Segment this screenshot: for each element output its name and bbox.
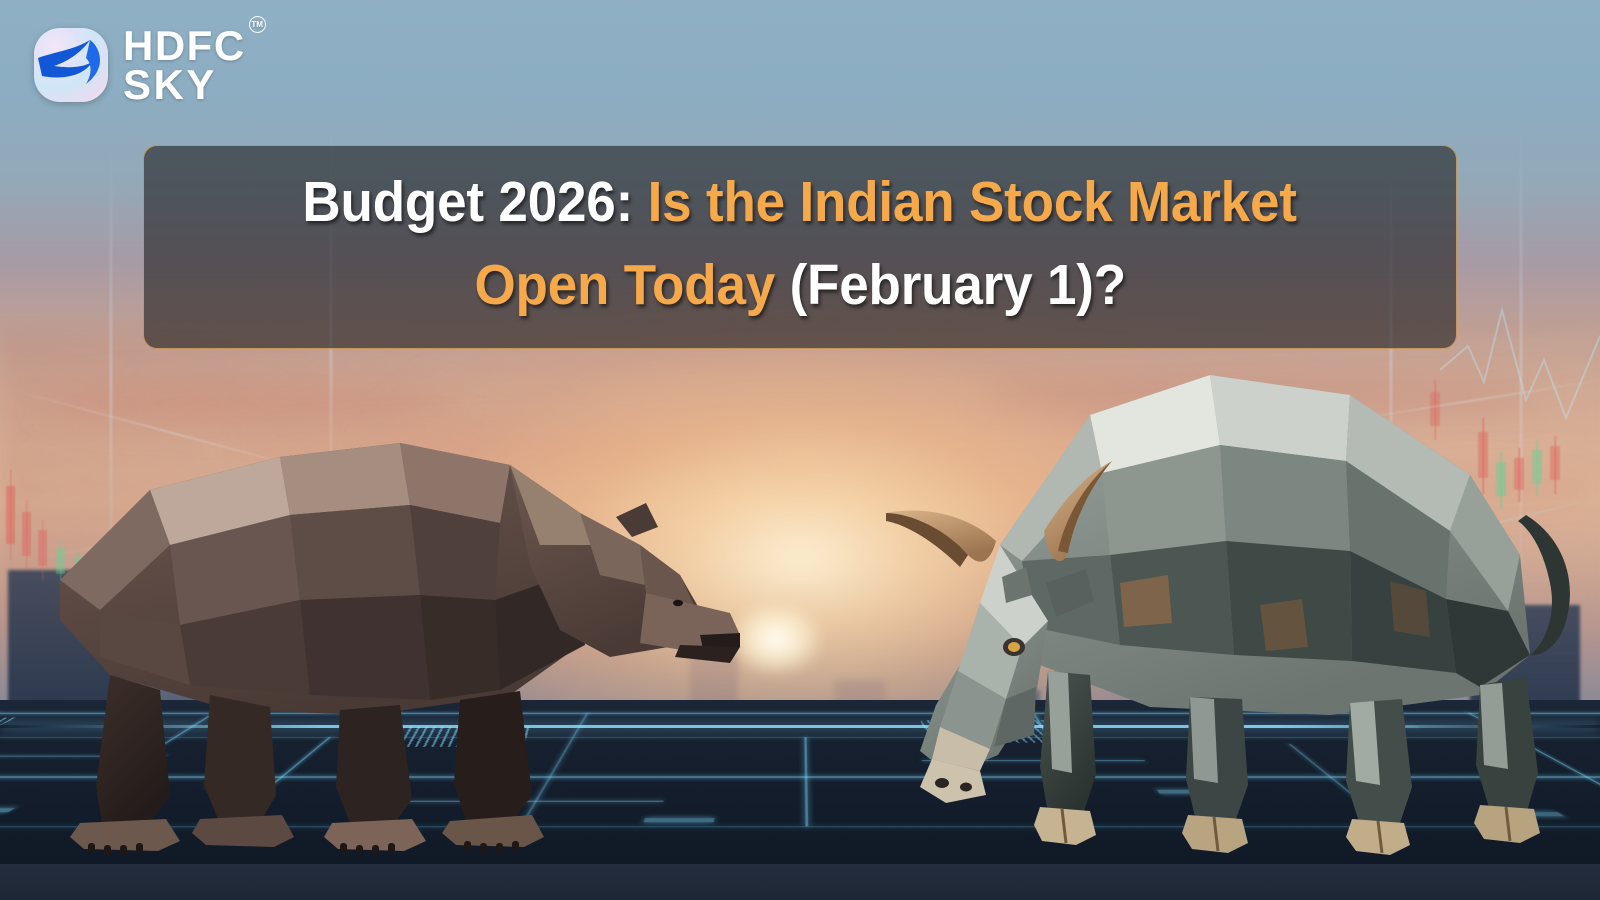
brand-line-2: SKY <box>123 65 246 104</box>
banner-image: HDFC SKY TM Budget 2026: Is the Indian S… <box>0 0 1600 900</box>
headline-line-1: Budget 2026: Is the Indian Stock Market <box>303 161 1297 244</box>
headline-suffix: (February 1)? <box>789 253 1125 317</box>
trademark-icon: TM <box>249 16 266 33</box>
headline-accent-1: Is the Indian Stock Market <box>648 170 1297 234</box>
hdfc-sky-swoosh-logo-icon <box>34 28 108 102</box>
brand-line-1: HDFC <box>123 26 246 65</box>
bear-statue <box>40 395 740 865</box>
brand-wordmark: HDFC SKY TM <box>123 26 246 104</box>
headline-accent-2: Open Today <box>474 253 775 317</box>
headline-banner: Budget 2026: Is the Indian Stock Market … <box>143 145 1457 349</box>
headline-prefix: Budget 2026: <box>303 170 634 234</box>
brand-logo[interactable]: HDFC SKY TM <box>34 26 246 104</box>
bull-statue <box>790 355 1580 855</box>
headline-line-2: Open Today (February 1)? <box>474 244 1125 327</box>
